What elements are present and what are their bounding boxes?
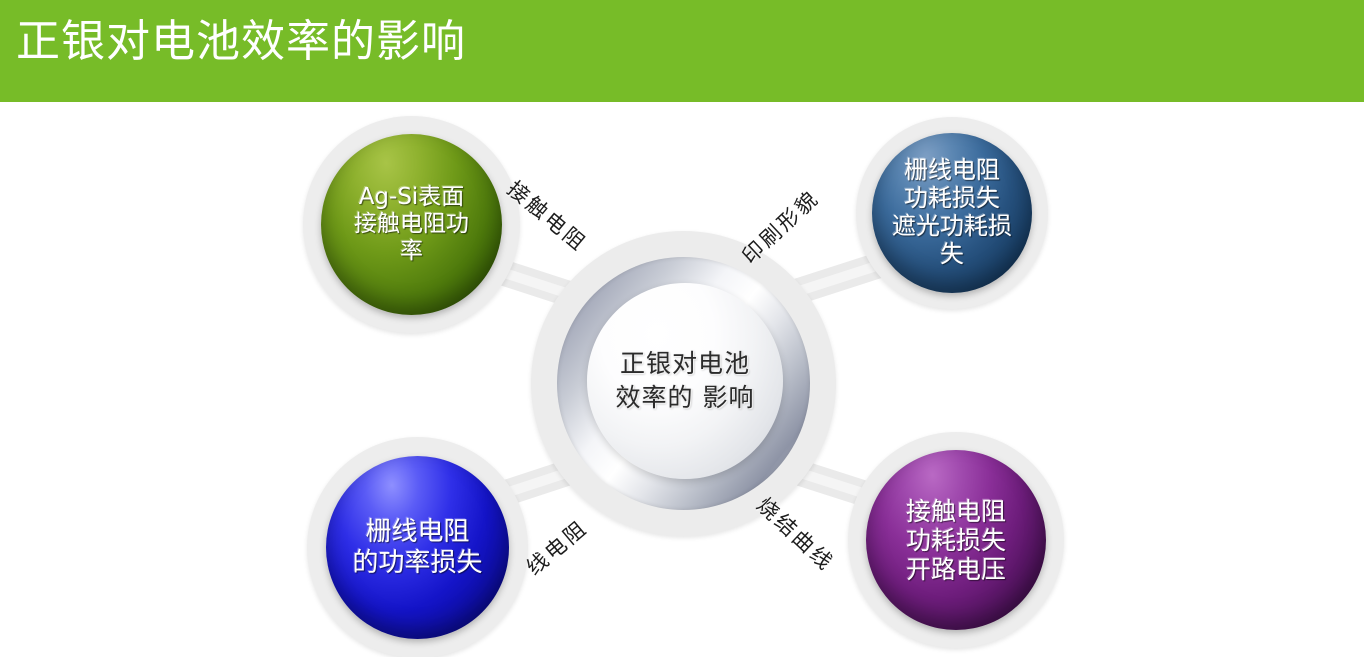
center-node[interactable]: 正银对电池 效率的 影响 — [531, 231, 836, 536]
node-ag-si-surface-label: Ag-Si表面 接触电阻功 率 — [321, 134, 502, 315]
title-banner: 正银对电池效率的影响 — [0, 0, 1364, 102]
node-contact-resistance-voc-label: 接触电阻 功耗损失 开路电压 — [866, 450, 1046, 630]
center-node-label: 正银对电池 效率的 影响 — [587, 283, 783, 479]
node-finger-resistance-power-loss-disc: 栅线电阻 的功率损失 — [326, 456, 509, 639]
node-contact-resistance-voc-disc: 接触电阻 功耗损失 开路电压 — [866, 450, 1046, 630]
node-ag-si-surface-disc: Ag-Si表面 接触电阻功 率 — [321, 134, 502, 315]
node-ag-si-surface[interactable]: Ag-Si表面 接触电阻功 率 — [303, 116, 520, 333]
node-finger-resistance-shading-disc: 栅线电阻 功耗损失 遮光功耗损 失 — [872, 133, 1032, 293]
slide-canvas: 正银对电池效率的影响 — [0, 0, 1364, 657]
node-finger-resistance-shading[interactable]: 栅线电阻 功耗损失 遮光功耗损 失 — [856, 117, 1048, 309]
node-contact-resistance-voc[interactable]: 接触电阻 功耗损失 开路电压 — [848, 432, 1064, 648]
center-node-face: 正银对电池 效率的 影响 — [587, 283, 783, 479]
page-title: 正银对电池效率的影响 — [16, 11, 466, 73]
node-finger-resistance-power-loss-label: 栅线电阻 的功率损失 — [326, 456, 509, 639]
hub-and-spoke-diagram: 正银对电池 效率的 影响 Ag-Si表面 接触电阻功 率 栅线电阻 功耗损失 遮… — [0, 102, 1364, 657]
node-finger-resistance-power-loss[interactable]: 栅线电阻 的功率损失 — [307, 437, 528, 657]
